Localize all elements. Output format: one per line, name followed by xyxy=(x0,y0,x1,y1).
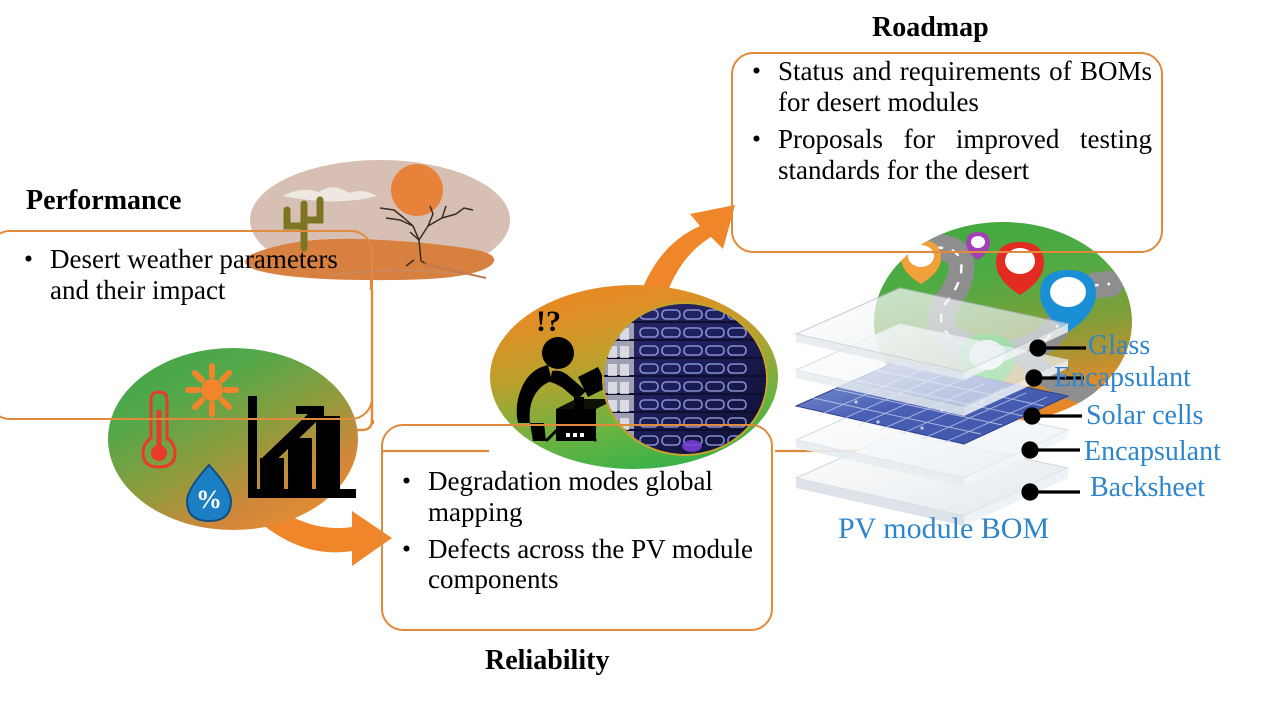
bom-label-backsheet: Backsheet xyxy=(1090,472,1205,504)
performance-bullet-list: Desert weather parameters and their impa… xyxy=(20,244,350,306)
list-item: Proposals for improved testing standards… xyxy=(748,124,1152,186)
bom-label-encapsulant-upper: Encapsulant xyxy=(1054,362,1191,394)
roadmap-bullet-list: Status and requirements of BOMs for dese… xyxy=(748,56,1152,186)
list-item: Desert weather parameters and their impa… xyxy=(20,244,350,306)
pv-module-bom-caption: PV module BOM xyxy=(838,512,1049,546)
bom-label-encapsulant-lower: Encapsulant xyxy=(1084,436,1221,468)
list-item: Status and requirements of BOMs for dese… xyxy=(748,56,1152,118)
list-item: Defects across the PV module components xyxy=(398,534,758,596)
reliability-title: Reliability xyxy=(485,645,609,677)
list-item: Degradation modes global mapping xyxy=(398,466,758,528)
svg-text:%: % xyxy=(196,485,222,514)
humidity-droplet-icon: % xyxy=(187,465,231,521)
bom-label-solar-cells: Solar cells xyxy=(1086,400,1203,432)
roadmap-title: Roadmap xyxy=(872,12,989,44)
sun-disc xyxy=(391,164,443,216)
reliability-bullet-list: Degradation modes global mapping Defects… xyxy=(398,466,758,595)
svg-text:!?: !? xyxy=(536,305,561,338)
bom-label-glass: Glass xyxy=(1088,330,1150,362)
performance-title: Performance xyxy=(26,185,181,217)
figure-canvas: % !? xyxy=(0,0,1280,705)
exclamation-question-icon: !? xyxy=(536,305,561,338)
